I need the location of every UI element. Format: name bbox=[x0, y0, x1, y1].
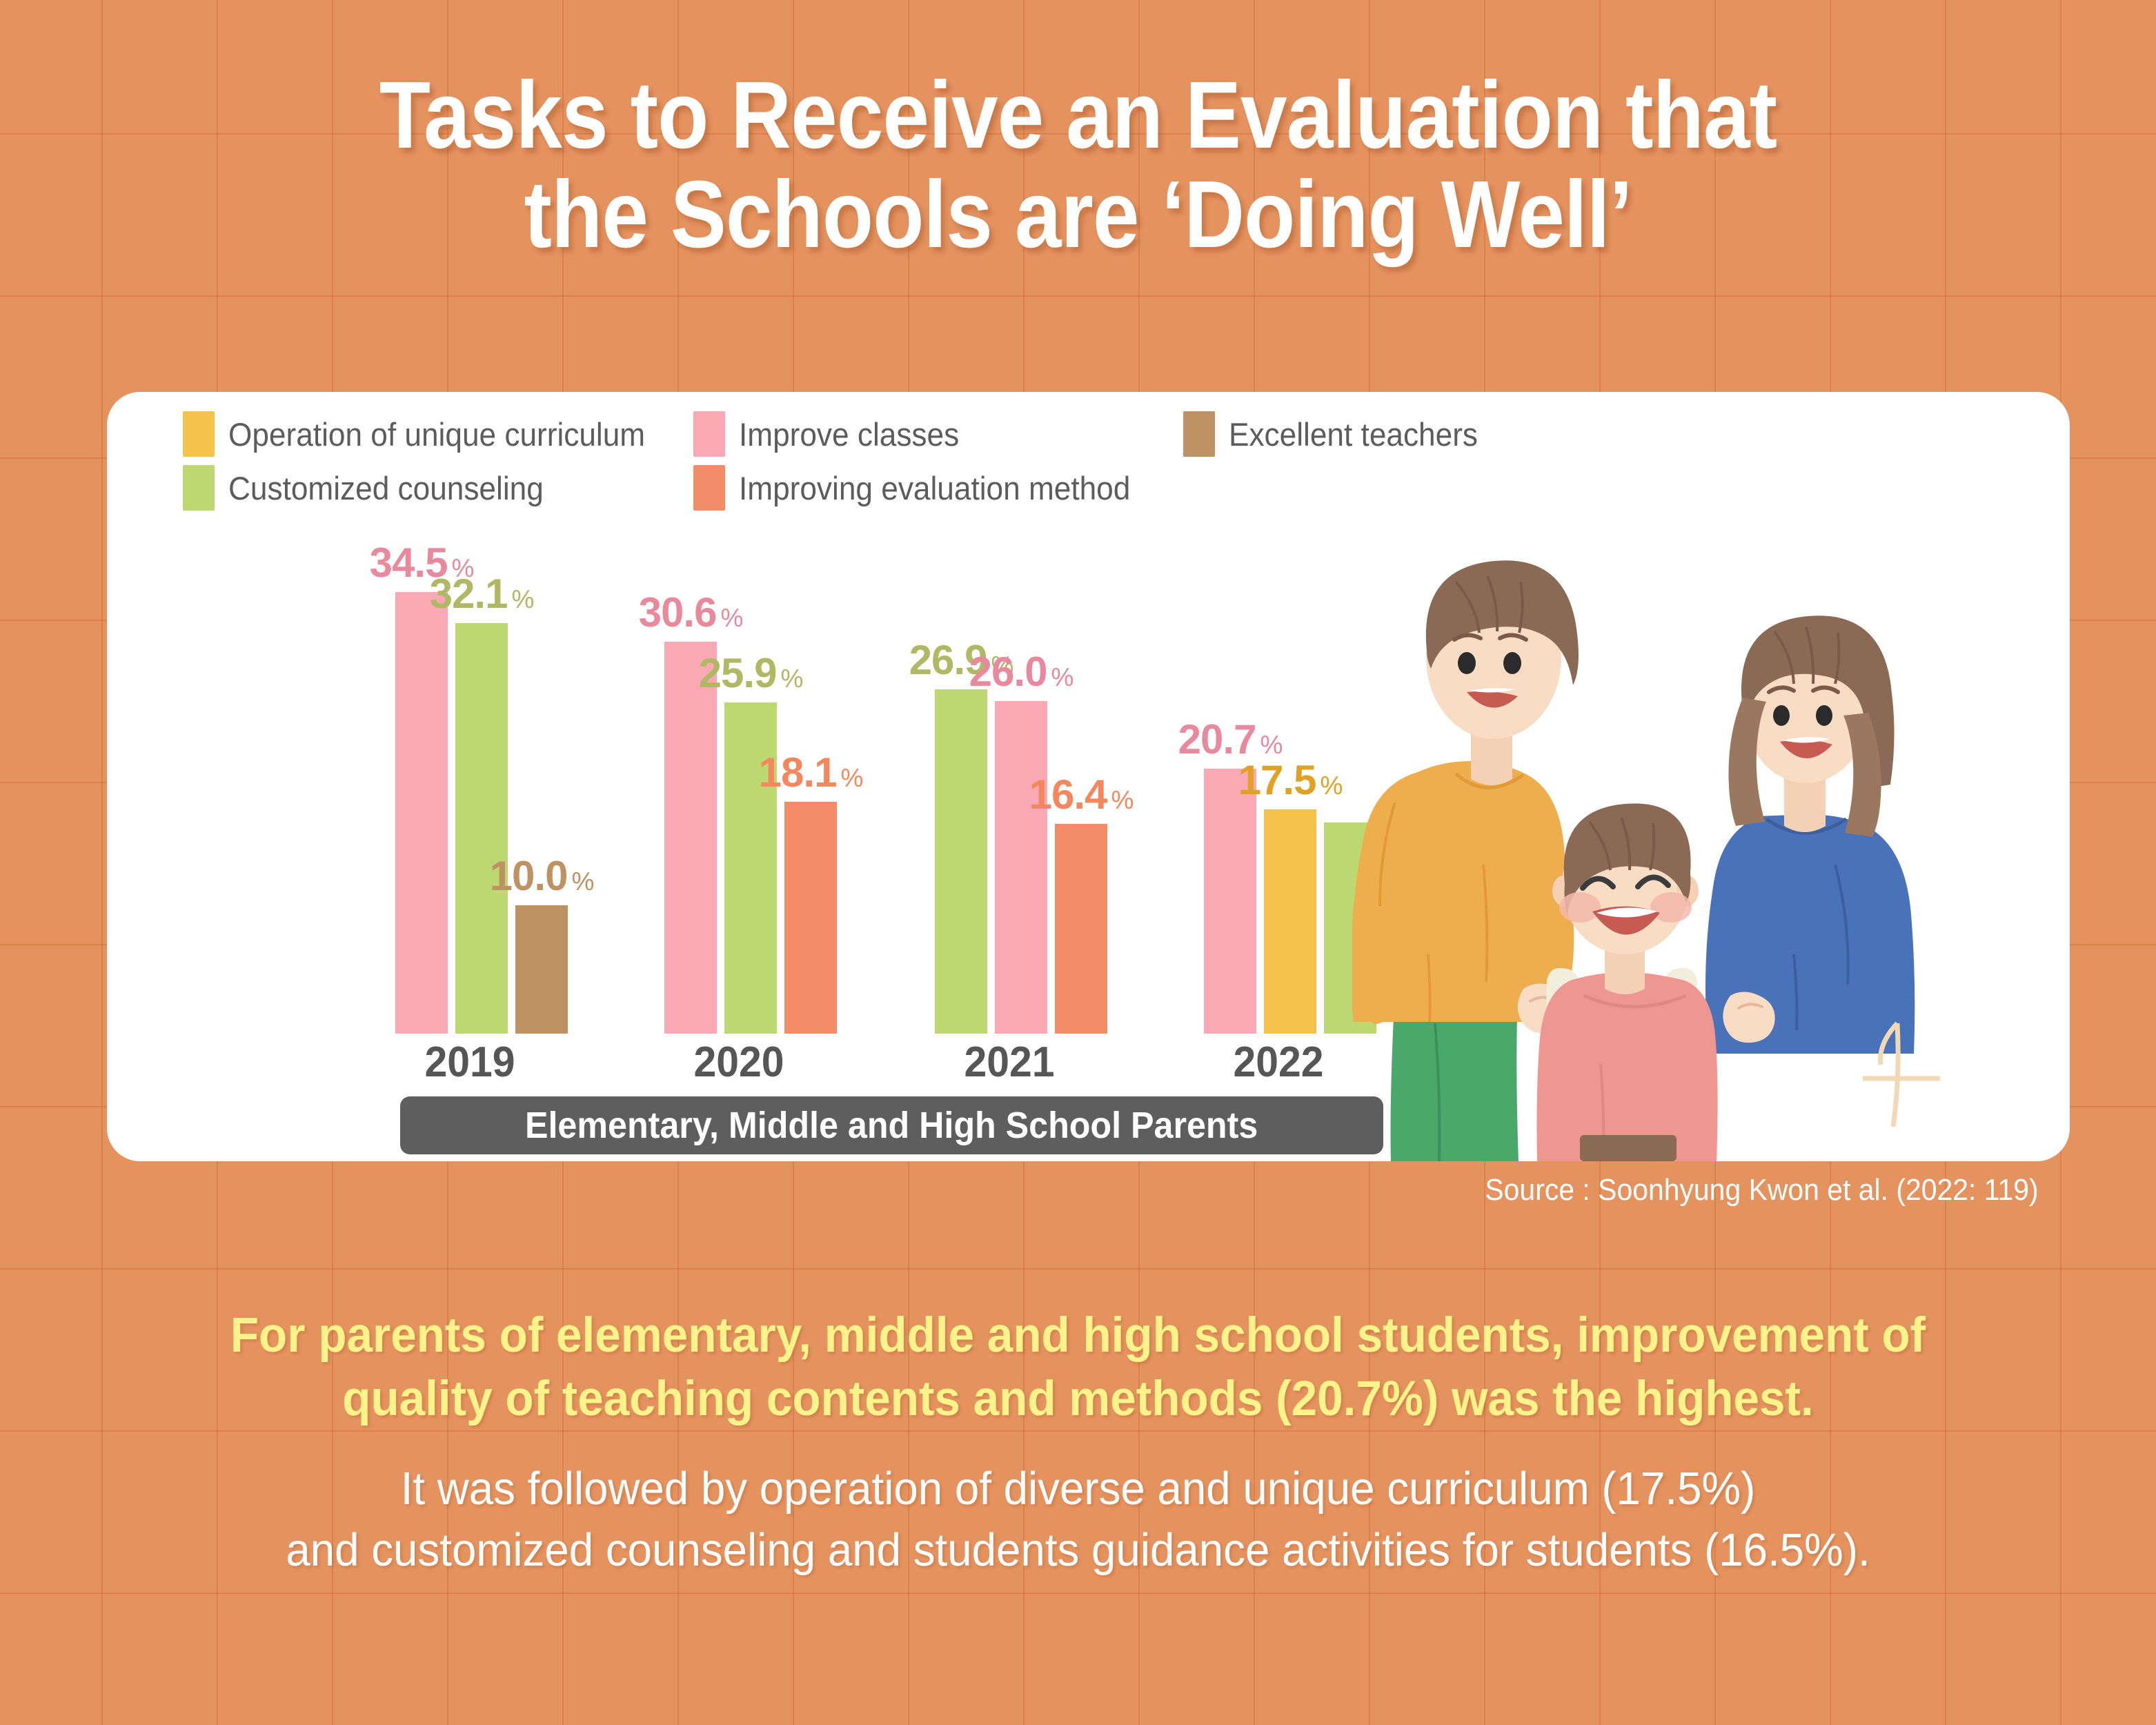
bar-value-label-2020-counseling: 25.9% bbox=[699, 649, 803, 697]
year-label-2020: 2020 bbox=[693, 1038, 784, 1087]
bar-2021-counseling[interactable]: 26.9% bbox=[935, 689, 987, 1034]
percent-sign: % bbox=[780, 664, 802, 693]
title-line-1: Tasks to Receive an Evaluation that bbox=[130, 66, 2027, 166]
bar-value-label-2022-curriculum: 17.5% bbox=[1238, 756, 1343, 804]
footer-body-line-1: It was followed by operation of diverse … bbox=[54, 1458, 2102, 1519]
bar-2020-classes[interactable]: 30.6% bbox=[664, 642, 717, 1034]
audience-banner-label: Elementary, Middle and High School Paren… bbox=[525, 1104, 1258, 1147]
bar-value-label-2020-classes: 30.6% bbox=[639, 589, 743, 636]
bar-rect-2021-evaluation bbox=[1055, 824, 1107, 1034]
bar-value-label-2021-evaluation: 16.4% bbox=[1029, 771, 1134, 818]
bar-group-2020: 30.6%25.9%18.1% bbox=[664, 642, 837, 1034]
family-of-three-illustration bbox=[1352, 540, 2049, 1161]
bar-2019-teachers[interactable]: 10.0% bbox=[515, 905, 568, 1034]
bar-rect-2021-counseling bbox=[935, 689, 987, 1034]
page-title: Tasks to Receive an Evaluation that the … bbox=[0, 66, 2156, 264]
percent-sign: % bbox=[571, 867, 593, 896]
bar-value-label-2020-evaluation: 18.1% bbox=[759, 749, 863, 796]
bar-2019-classes[interactable]: 34.5% bbox=[395, 592, 448, 1034]
bar-group-2021: 26.9%26.0%16.4% bbox=[935, 689, 1107, 1034]
audience-banner: Elementary, Middle and High School Paren… bbox=[400, 1096, 1383, 1154]
bar-group-2022: 20.7%17.5%16.5% bbox=[1204, 769, 1376, 1034]
bar-rect-2019-teachers bbox=[515, 905, 568, 1034]
bar-value-label-2021-classes: 26.0% bbox=[969, 648, 1074, 696]
chart-card: Operation of unique curriculumImprove cl… bbox=[107, 392, 2070, 1161]
bar-group-2019: 34.5%32.1%10.0% bbox=[395, 592, 568, 1034]
title-line-2: the Schools are ‘Doing Well’ bbox=[130, 166, 2027, 265]
bar-2022-curriculum[interactable]: 17.5% bbox=[1264, 809, 1316, 1034]
bar-rect-2020-classes bbox=[664, 642, 717, 1034]
footer-body-line-2: and customized counseling and students g… bbox=[54, 1519, 2102, 1581]
bar-2019-counseling[interactable]: 32.1% bbox=[455, 623, 508, 1034]
bar-rect-2020-evaluation bbox=[784, 802, 837, 1034]
year-label-2021: 2021 bbox=[964, 1038, 1054, 1087]
bar-rect-2019-counseling bbox=[455, 623, 508, 1034]
bar-rect-2022-classes bbox=[1204, 769, 1256, 1034]
bar-2021-classes[interactable]: 26.0% bbox=[995, 701, 1047, 1034]
bar-value-label-2019-teachers: 10.0% bbox=[490, 852, 594, 900]
percent-sign: % bbox=[1051, 663, 1073, 691]
percent-sign: % bbox=[840, 764, 862, 792]
percent-sign: % bbox=[1320, 771, 1342, 800]
bar-rect-2021-classes bbox=[995, 701, 1047, 1034]
highlight-line-2: quality of teaching contents and methods… bbox=[54, 1368, 2102, 1431]
year-label-2019: 2019 bbox=[424, 1038, 515, 1087]
bar-2022-classes[interactable]: 20.7% bbox=[1204, 769, 1256, 1034]
bar-chart-plot-area: 34.5%32.1%10.0%201930.6%25.9%18.1%202026… bbox=[107, 392, 1418, 1161]
source-attribution: Source : Soonhyung Kwon et al. (2022: 11… bbox=[1485, 1173, 2039, 1207]
percent-sign: % bbox=[511, 585, 533, 613]
bar-2021-evaluation[interactable]: 16.4% bbox=[1055, 824, 1107, 1034]
highlight-line-1: For parents of elementary, middle and hi… bbox=[54, 1304, 2102, 1368]
bar-rect-2022-curriculum bbox=[1264, 809, 1316, 1034]
percent-sign: % bbox=[1260, 731, 1282, 759]
percent-sign: % bbox=[720, 604, 742, 632]
bar-rect-2019-classes bbox=[395, 592, 448, 1034]
bar-value-label-2019-counseling: 32.1% bbox=[430, 570, 534, 618]
year-label-2022: 2022 bbox=[1233, 1038, 1323, 1087]
bar-2020-evaluation[interactable]: 18.1% bbox=[784, 802, 837, 1034]
percent-sign: % bbox=[1111, 786, 1133, 814]
footer-summary: For parents of elementary, middle and hi… bbox=[0, 1304, 2156, 1581]
